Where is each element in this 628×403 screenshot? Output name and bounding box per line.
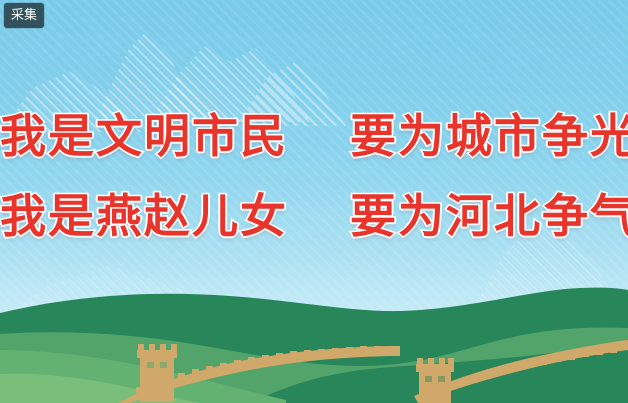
headline-line-1: 我是文明市民 要为城市争光 (0, 100, 628, 166)
headline-line-2: 我是燕赵儿女 要为河北争气 (0, 180, 628, 246)
headline-line-1-left-phrase: 我是文明市民 (0, 109, 288, 163)
headline-line-2-right-phrase: 要为河北争气 (350, 189, 628, 243)
great-wall-right-watchtower (416, 358, 454, 403)
capture-button[interactable]: 采集 (4, 3, 44, 28)
banner-canvas: 我是文明市民 要为城市争光 我是燕赵儿女 要为河北争气 采集 (0, 0, 628, 403)
headline-line-2-left-phrase: 我是燕赵儿女 (0, 189, 288, 243)
headline-line-1-right-phrase: 要为城市争光 (350, 109, 628, 163)
great-wall-left-watchtower (137, 344, 177, 402)
